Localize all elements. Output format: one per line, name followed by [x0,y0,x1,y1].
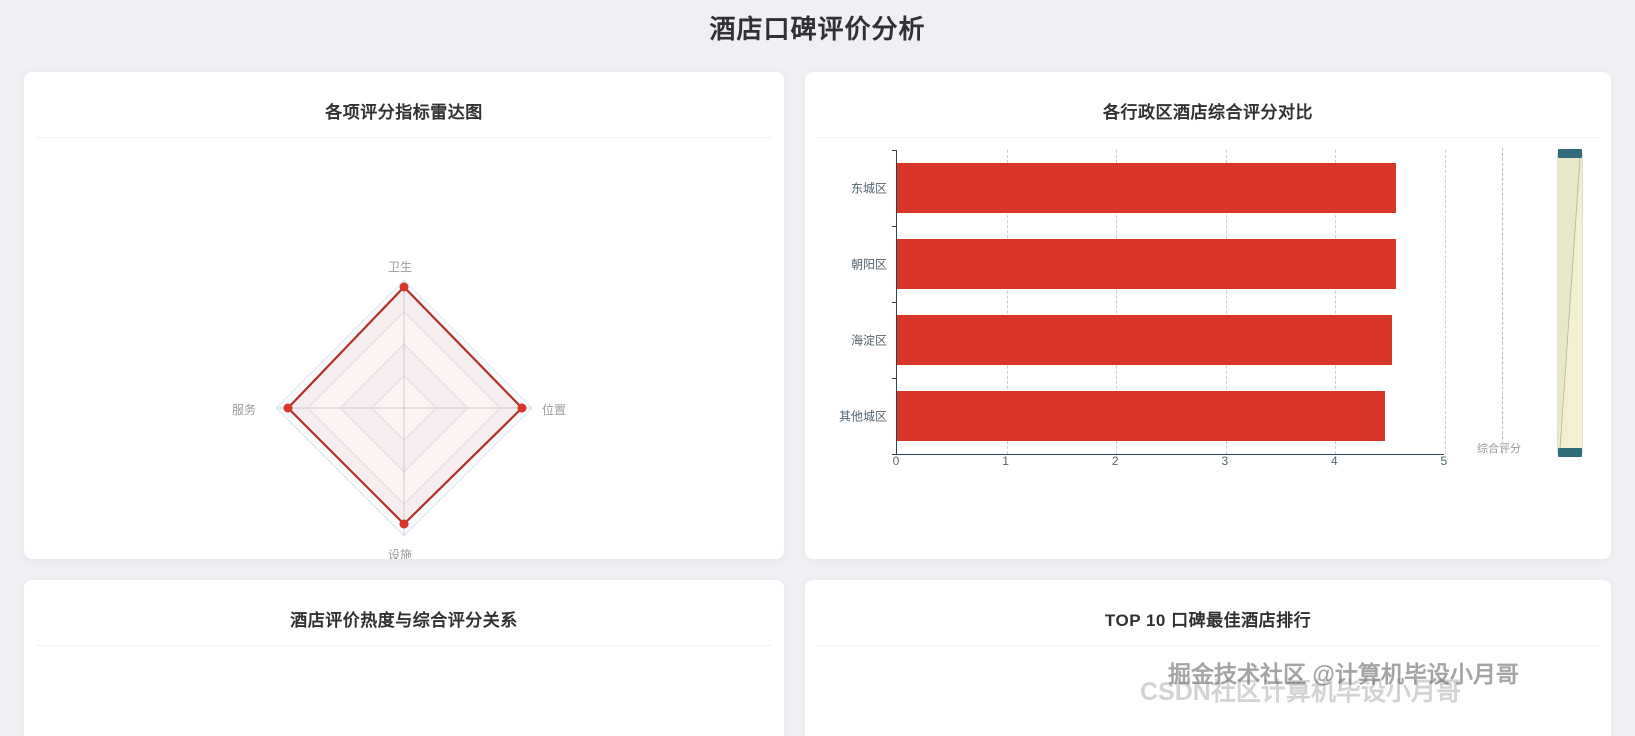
ytick-0 [892,150,897,151]
xtick-2: 2 [1112,454,1119,468]
table-row[interactable]: 其他城区 [897,391,1385,441]
xtick-1: 1 [1002,454,1009,468]
dashboard-root: 酒店口碑评价分析 各项评分指标雷达图 [0,0,1635,736]
bar-chaoyang[interactable] [897,239,1396,289]
table-row[interactable]: 海淀区 [897,315,1392,365]
bar-qitachengqu[interactable] [897,391,1385,441]
radar-axis-label-bottom: 设施 [388,546,412,559]
bar-plot-area: 东城区 朝阳区 海淀区 其他城区 [896,150,1444,454]
bar-dongcheng[interactable] [897,163,1396,213]
card-bar-title: 各行政区酒店综合评分对比 [805,72,1611,137]
bar-xaxis: 0 1 2 3 4 5 [896,454,1444,474]
radar-svg [24,138,784,553]
datazoom-curve-icon [1558,153,1582,453]
card-top10-body [805,646,1611,736]
datazoom-handle-top[interactable] [1558,149,1582,158]
card-top10-title: TOP 10 口碑最佳酒店排行 [805,580,1611,645]
card-scatter-title: 酒店评价热度与综合评分关系 [24,580,784,645]
datazoom-track[interactable] [1557,152,1583,454]
xtick-0: 0 [893,454,900,468]
ytick-1 [892,226,897,227]
datazoom-boundary-line [1502,148,1503,454]
card-scatter: 酒店评价热度与综合评分关系 综合评分 [24,580,784,736]
radar-axis-label-right: 位置 [542,401,566,418]
bar-label-haidian: 海淀区 [851,332,887,349]
datazoom-label: 综合评分 [1477,440,1521,456]
ytick-2 [892,302,897,303]
bar-label-qitachengqu: 其他城区 [839,408,887,425]
card-radar-title: 各项评分指标雷达图 [24,72,784,137]
radar-axis-label-left: 服务 [232,401,256,418]
bar-chart[interactable]: 东城区 朝阳区 海淀区 其他城区 [805,138,1611,553]
card-bar: 各行政区酒店综合评分对比 [805,72,1611,559]
bar-haidian[interactable] [897,315,1392,365]
bar-label-dongcheng: 东城区 [851,180,887,197]
ytick-3 [892,378,897,379]
card-top10: TOP 10 口碑最佳酒店排行 [805,580,1611,736]
gridline-5 [1445,150,1446,454]
xtick-5: 5 [1441,454,1448,468]
radar-chart[interactable]: 卫生 位置 设施 服务 综合评分 [24,138,784,553]
xtick-4: 4 [1331,454,1338,468]
card-radar: 各项评分指标雷达图 [24,72,784,559]
card-radar-body: 卫生 位置 设施 服务 综合评分 [24,138,784,553]
card-scatter-body: 综合评分 [24,646,784,736]
bar-label-chaoyang: 朝阳区 [851,256,887,273]
datazoom-slider[interactable]: 综合评分 [1557,152,1583,454]
page-title: 酒店口碑评价分析 [0,8,1635,50]
datazoom-handle-bottom[interactable] [1558,448,1582,457]
table-row[interactable]: 朝阳区 [897,239,1396,289]
table-row[interactable]: 东城区 [897,163,1396,213]
xtick-3: 3 [1221,454,1228,468]
card-bar-body: 东城区 朝阳区 海淀区 其他城区 [805,138,1611,553]
radar-axis-label-top: 卫生 [388,258,412,275]
